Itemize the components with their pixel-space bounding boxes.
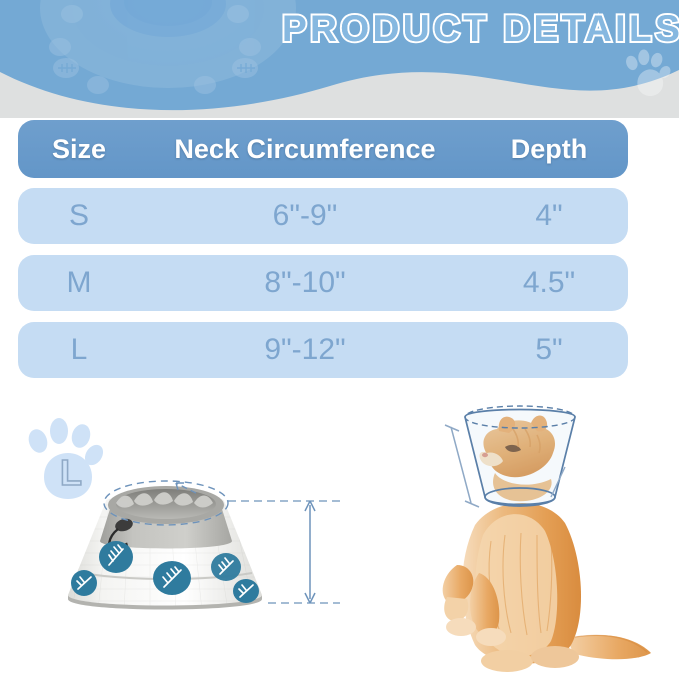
table-row: M 8"-10" 4.5" xyxy=(18,255,628,311)
cell-neck: 9"-12" xyxy=(140,333,470,367)
column-header-neck: Neck Circumference xyxy=(140,134,470,165)
cell-size: M xyxy=(18,266,140,300)
column-header-size: Size xyxy=(18,134,140,165)
page-header: PRODUCT DETAILS PRODUCT DETAILS xyxy=(0,0,679,118)
cat-cone xyxy=(465,406,575,506)
cell-depth: 4.5" xyxy=(470,266,628,300)
cell-depth: 5" xyxy=(470,333,628,367)
cell-size: S xyxy=(18,199,140,233)
table-header-row: Size Neck Circumference Depth xyxy=(18,120,628,178)
cone-diagram: L xyxy=(10,405,390,679)
cat-diagram xyxy=(379,405,679,679)
size-table: Size Neck Circumference Depth S 6"-9" 4"… xyxy=(18,120,628,389)
size-badge-paw: L xyxy=(26,418,107,499)
page-title-fill: PRODUCT DETAILS xyxy=(282,6,674,52)
cell-size: L xyxy=(18,333,140,367)
cat-illustration xyxy=(443,406,651,672)
cone-product xyxy=(52,486,282,611)
cell-depth: 4" xyxy=(470,199,628,233)
cell-neck: 6"-9" xyxy=(140,199,470,233)
table-row: S 6"-9" 4" xyxy=(18,188,628,244)
badge-letter: L xyxy=(60,452,82,493)
illustrations-area: L xyxy=(0,405,679,679)
column-header-depth: Depth xyxy=(470,134,628,165)
table-row: L 9"-12" 5" xyxy=(18,322,628,378)
product-details-page: PRODUCT DETAILS PRODUCT DETAILS Size Nec… xyxy=(0,0,679,679)
cell-neck: 8"-10" xyxy=(140,266,470,300)
